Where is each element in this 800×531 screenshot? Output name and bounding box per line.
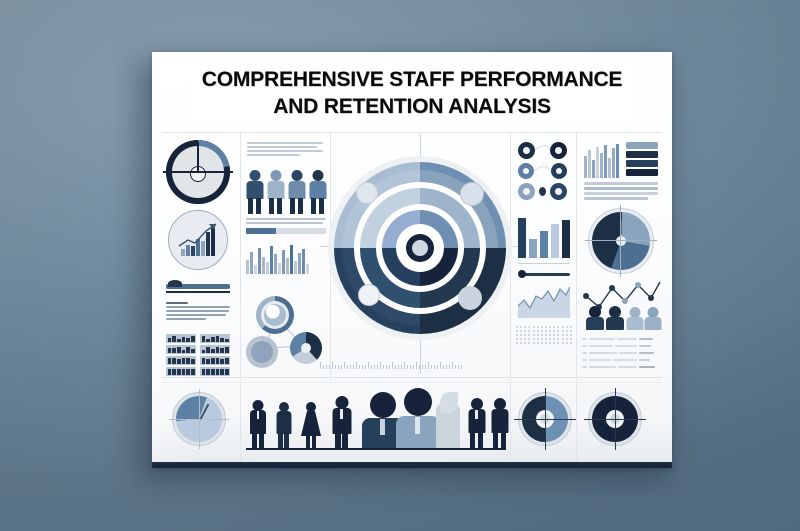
satellite-node-1 [356, 182, 378, 204]
person-figure [468, 398, 485, 450]
team-figure [586, 306, 604, 330]
matrix-connectors [518, 142, 570, 202]
person-figure [332, 396, 351, 450]
panel-caption-lines [584, 182, 658, 202]
pointer-bar-base [166, 291, 230, 293]
staff-figure [288, 170, 305, 214]
poster-title-band: COMPREHENSIVE STAFF PERFORMANCE AND RETE… [188, 62, 636, 124]
staff-column-header-text [247, 142, 323, 158]
person-figure [491, 398, 508, 450]
table-row [582, 359, 662, 361]
chart-progress-bar [246, 228, 326, 234]
person-figure [276, 402, 291, 450]
progress-fill [246, 228, 276, 234]
center-ruler-ticks [320, 360, 520, 369]
pie-target-crosshair-h [585, 240, 657, 241]
grid-divider-1 [240, 132, 241, 380]
target1-crosshair-v [545, 388, 546, 450]
left-data-blocks [166, 334, 230, 376]
slider-knob[interactable] [518, 270, 526, 278]
table-row [582, 366, 662, 368]
clock-crosshair-v [199, 389, 200, 449]
right-bars-axis [518, 263, 570, 264]
satellite-node-4 [458, 286, 482, 310]
chart-team-line [582, 280, 662, 330]
team-figure [644, 307, 661, 330]
left-caption-text [166, 302, 230, 322]
micro-bar-row [246, 244, 326, 274]
right-table-rows [582, 338, 662, 374]
table-row [582, 345, 662, 347]
data-block [166, 367, 196, 376]
area-spark-svg [518, 284, 570, 318]
seated-person-figure [396, 388, 440, 450]
chart-bottom-target-2 [588, 392, 642, 446]
infographic-poster: COMPREHENSIVE STAFF PERFORMANCE AND RETE… [152, 52, 672, 468]
chart-right-pie-target [588, 208, 654, 274]
globe-icon [264, 304, 286, 326]
grid-divider-4 [576, 132, 577, 380]
person-figure [250, 400, 266, 450]
bottom-people-row [246, 388, 506, 450]
team-figure [626, 307, 643, 330]
poster-bottom-band [152, 462, 672, 468]
stack-bar [626, 169, 658, 176]
stack-bar [626, 151, 658, 158]
poster-title-line-1: COMPREHENSIVE STAFF PERFORMANCE [202, 66, 622, 93]
stack-bar [626, 160, 658, 167]
radial-core-hub [412, 240, 428, 256]
staff-micro-bars [246, 244, 326, 274]
grid-line-top [162, 132, 662, 133]
grid-divider-5 [240, 382, 241, 468]
dot-matrix-grid [516, 326, 572, 344]
table-row [582, 352, 662, 354]
table-row [582, 338, 662, 340]
left-pointer-bar [166, 280, 230, 294]
chart-top-left-donut [166, 140, 230, 204]
pie-target-crosshair-v [620, 205, 621, 277]
data-block [166, 356, 196, 365]
data-block [166, 345, 196, 354]
slider-track [524, 273, 570, 276]
grid-line-mid-2 [162, 382, 662, 383]
grid-divider-7 [576, 382, 577, 468]
grid-line-mid [162, 377, 662, 378]
pointer-bar-knob [168, 280, 182, 287]
chart-area-spark [518, 284, 570, 318]
person-figure-female [301, 402, 321, 450]
staff-pictogram-group [246, 170, 326, 214]
node-pie-hub [301, 343, 311, 353]
chart-bottom-target-1 [518, 392, 572, 446]
satellite-node-3 [358, 284, 380, 306]
data-block [200, 356, 230, 365]
grid-divider-6 [510, 382, 511, 468]
right-bars [518, 214, 570, 258]
donut-crosshair-v [197, 142, 199, 172]
badge-trend-arrow [168, 210, 228, 270]
right-slider [518, 270, 570, 278]
stack-bar-top [626, 142, 658, 149]
team-figure [606, 306, 624, 330]
plant-leaves [440, 392, 458, 414]
data-block [200, 334, 230, 343]
chart-bottom-left-pie [172, 392, 226, 446]
ring-matrix-group [518, 142, 570, 202]
face-icon [251, 341, 273, 363]
node-network-group [244, 284, 328, 374]
chart-right-column-bars [518, 214, 570, 264]
chart-left-badge-growth [168, 210, 228, 270]
staff-figure [246, 170, 263, 214]
poster-title-line-2: AND RETENTION ANALYSIS [273, 93, 551, 120]
satellite-node-2 [460, 182, 484, 206]
people-baseline [246, 448, 506, 450]
data-block [200, 345, 230, 354]
target2-crosshair-v [615, 388, 616, 450]
caption-heading-line [166, 302, 188, 304]
staff-caption-text [246, 218, 326, 226]
data-block [200, 367, 230, 376]
data-block [166, 334, 196, 343]
stacked-bar-panel [584, 140, 660, 202]
staff-figure [267, 170, 284, 214]
panel-column-bars [584, 144, 622, 178]
pie-target-hub [616, 236, 626, 246]
center-radial-panel [320, 134, 520, 374]
